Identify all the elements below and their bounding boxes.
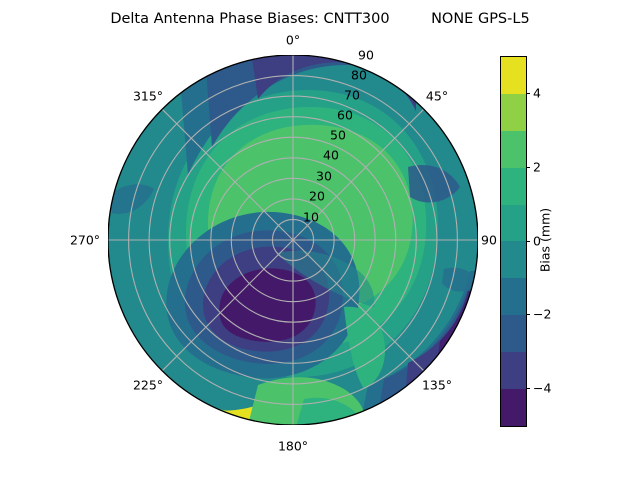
- radial-tick-60: 60: [337, 108, 353, 123]
- azimuth-label-225: 225°: [133, 378, 163, 393]
- polar-contour-svg: [108, 55, 478, 425]
- colorbar-band-8: [501, 94, 526, 131]
- page-title: Delta Antenna Phase Biases: CNTT300 NONE…: [0, 10, 640, 28]
- colorbar-tick-label-4: 4: [533, 85, 541, 100]
- tick-mark-2: [526, 167, 530, 168]
- radial-tick-10: 10: [303, 210, 319, 225]
- colorbar-band-5: [501, 205, 526, 242]
- radial-tick-30: 30: [316, 169, 332, 184]
- colorbar-band-3: [501, 278, 526, 315]
- tick-mark-0: [526, 241, 530, 242]
- colorbar[interactable]: [500, 56, 527, 427]
- azimuth-label-135: 135°: [422, 378, 452, 393]
- azimuth-label-180: 180°: [278, 439, 308, 454]
- azimuth-label-270: 270°: [70, 233, 100, 248]
- colorbar-band-9: [501, 57, 526, 94]
- colorbar-band-4: [501, 241, 526, 278]
- radial-tick-50: 50: [330, 128, 346, 143]
- azimuth-label-45: 45°: [426, 89, 448, 104]
- colorbar-tick-label-neg4: −4: [533, 381, 551, 396]
- angular-gridlines: [108, 55, 478, 425]
- tick-mark-neg4: [526, 388, 530, 389]
- colorbar-tick-group: 4 2 0 −2 −4: [526, 56, 586, 425]
- colorbar-band-2: [501, 315, 526, 352]
- polar-plot: [108, 55, 478, 425]
- colorbar-tick-label-neg2: −2: [533, 307, 551, 322]
- radial-tick-20: 20: [309, 189, 325, 204]
- radial-tick-70: 70: [344, 88, 360, 103]
- azimuth-label-0: 0°: [286, 33, 300, 48]
- colorbar-band-1: [501, 352, 526, 389]
- colorbar-band-6: [501, 168, 526, 205]
- tick-mark-neg2: [526, 314, 530, 315]
- colorbar-band-0: [501, 389, 526, 426]
- radial-tick-90: 90: [358, 48, 374, 63]
- tick-mark-4: [526, 93, 530, 94]
- azimuth-label-90: 90: [481, 233, 497, 248]
- colorbar-axis-label: Bias (mm): [538, 208, 553, 272]
- azimuth-label-315: 315°: [133, 89, 163, 104]
- radial-tick-80: 80: [351, 68, 367, 83]
- colorbar-tick-label-2: 2: [533, 159, 541, 174]
- colorbar-band-7: [501, 131, 526, 168]
- radial-tick-40: 40: [323, 148, 339, 163]
